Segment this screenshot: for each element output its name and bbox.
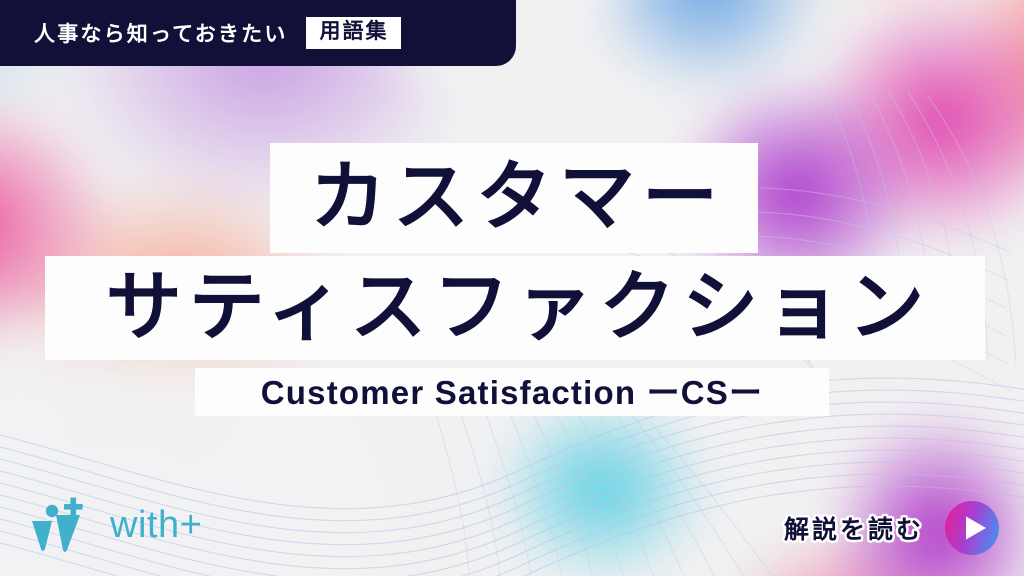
subtitle-text: Customer Satisfaction ーCSー <box>261 376 763 409</box>
title-line1-panel: カスタマー <box>270 143 758 253</box>
header-ribbon: 人事なら知っておきたい 用語集 <box>0 0 516 66</box>
with-plus-logo-icon <box>30 497 96 553</box>
title-line1-text: カスタマー <box>303 160 725 236</box>
header-badge: 用語集 <box>306 17 401 49</box>
subtitle-panel: Customer Satisfaction ーCSー <box>195 368 829 416</box>
banner-canvas: 人事なら知っておきたい 用語集 カスタマー サティスファクション Custome… <box>0 0 1024 576</box>
play-icon[interactable] <box>944 500 1000 556</box>
brand-wordmark: with+ <box>110 506 202 544</box>
title-line2-text: サティスファクション <box>99 270 931 346</box>
read-article-cta[interactable]: 解説を読む <box>784 500 1000 556</box>
title-line2-panel: サティスファクション <box>45 256 985 360</box>
header-eyebrow-text: 人事なら知っておきたい <box>34 18 288 48</box>
cta-label: 解説を読む <box>784 510 924 546</box>
brand-logo[interactable]: with+ <box>30 497 202 553</box>
